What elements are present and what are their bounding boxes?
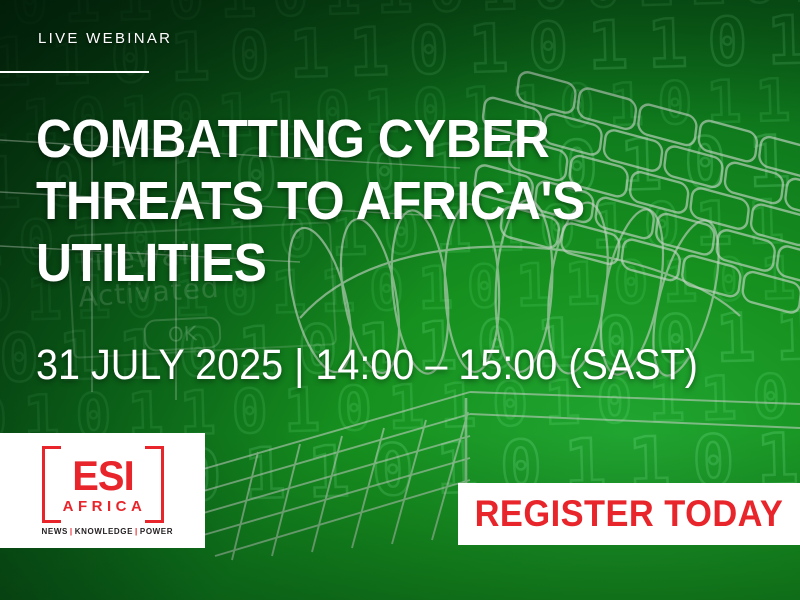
logo-lockup: ESI AFRICA NEWS|KNOWLEDGE|POWER [42, 446, 164, 536]
tagline-separator: | [68, 527, 75, 536]
logo-tagline: NEWS|KNOWLEDGE|POWER [42, 527, 164, 536]
tagline-news: NEWS [42, 527, 68, 536]
tagline-knowledge: KNOWLEDGE [75, 527, 133, 536]
headline-line-2: THREATS TO AFRICA'S [36, 170, 680, 232]
logo-frame: ESI AFRICA [42, 446, 164, 523]
eyebrow-label: LIVE WEBINAR [38, 30, 172, 47]
event-dateline: 31 JULY 2025 | 14:00 – 15:00 (SAST) [36, 340, 698, 390]
page-title: COMBATTING CYBER THREATS TO AFRICA'S UTI… [36, 108, 736, 294]
tagline-separator: | [133, 527, 140, 536]
logo-region: AFRICA [49, 498, 157, 516]
banner-content: LIVE WEBINAR COMBATTING CYBER THREATS TO… [0, 0, 800, 600]
esi-africa-logo[interactable]: ESI AFRICA NEWS|KNOWLEDGE|POWER [0, 433, 205, 548]
logo-wordmark: ESI [51, 456, 154, 496]
webinar-promo-banner: 1011010110100110101101 01101011010110101… [0, 0, 800, 600]
headline-line-1: COMBATTING CYBER [36, 108, 680, 170]
register-today-button[interactable]: REGISTER TODAY [458, 483, 800, 545]
tagline-power: POWER [140, 527, 173, 536]
eyebrow-divider [0, 71, 149, 73]
headline-line-3: UTILITIES [36, 232, 680, 294]
register-button-label: REGISTER TODAY [475, 493, 784, 535]
